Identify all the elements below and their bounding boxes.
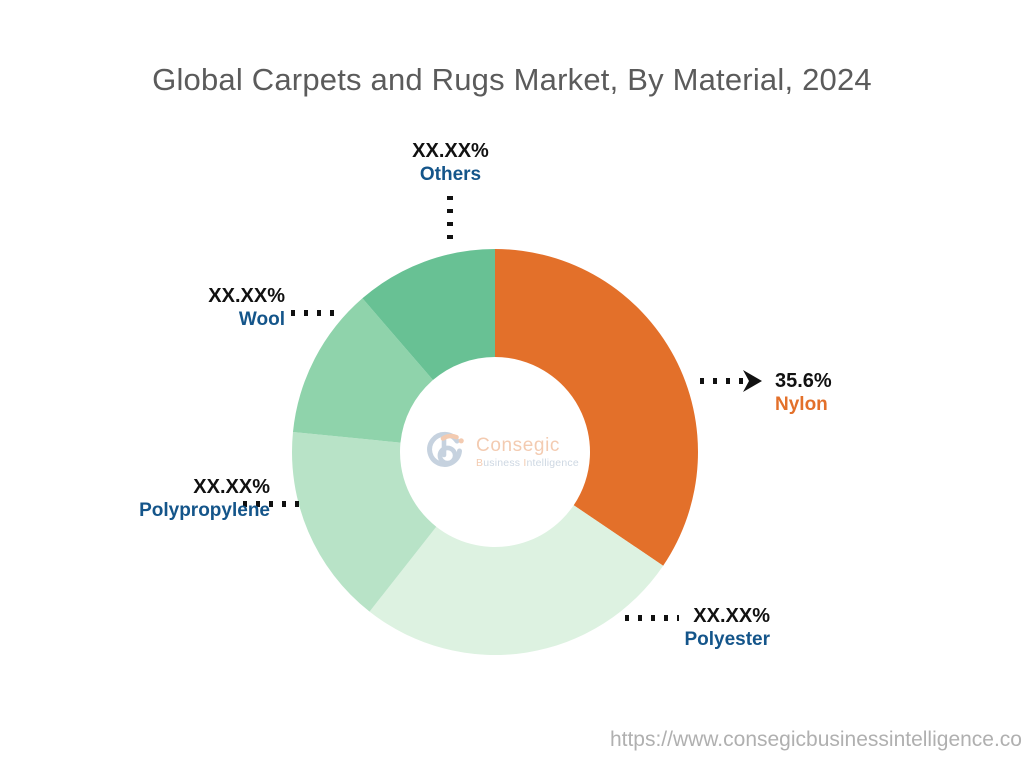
callout-polyester-value: XX.XX% [585, 605, 770, 629]
callout-others-value: XX.XX% [378, 140, 523, 164]
donut-slice-nylon[interactable] [495, 249, 698, 566]
callout-polyester-category: Polyester [585, 629, 770, 651]
callout-wool[interactable]: XX.XX% Wool [120, 285, 285, 331]
callout-wool-value: XX.XX% [120, 285, 285, 309]
watermark-text: Consegic Business Intelligence [476, 436, 579, 469]
callout-others-category: Others [378, 164, 523, 186]
callout-polypropylene[interactable]: XX.XX% Polypropylene [60, 476, 270, 522]
chart-container: Global Carpets and Rugs Market, By Mater… [0, 0, 1024, 768]
watermark-tagline-rest2: ntelligence [526, 457, 578, 469]
callout-nylon[interactable]: 35.6% Nylon [775, 370, 935, 416]
callout-wool-category: Wool [120, 309, 285, 331]
watermark-tagline: Business Intelligence [476, 458, 579, 469]
callout-polypropylene-category: Polypropylene [60, 500, 270, 522]
watermark-tagline-rest1: usiness [483, 457, 523, 469]
consegic-logo-icon [423, 429, 469, 475]
watermark-logo: Consegic Business Intelligence [423, 424, 583, 480]
callout-others[interactable]: XX.XX% Others [378, 140, 523, 186]
callout-nylon-category: Nylon [775, 394, 935, 416]
callout-nylon-value: 35.6% [775, 370, 935, 394]
watermark-brand-name: Consegic [476, 436, 579, 455]
leader-arrow-nylon [743, 370, 762, 392]
callout-polypropylene-value: XX.XX% [60, 476, 270, 500]
source-url[interactable]: https://www.consegicbusinessintelligence… [0, 728, 1024, 752]
callout-polyester[interactable]: XX.XX% Polyester [585, 605, 770, 651]
